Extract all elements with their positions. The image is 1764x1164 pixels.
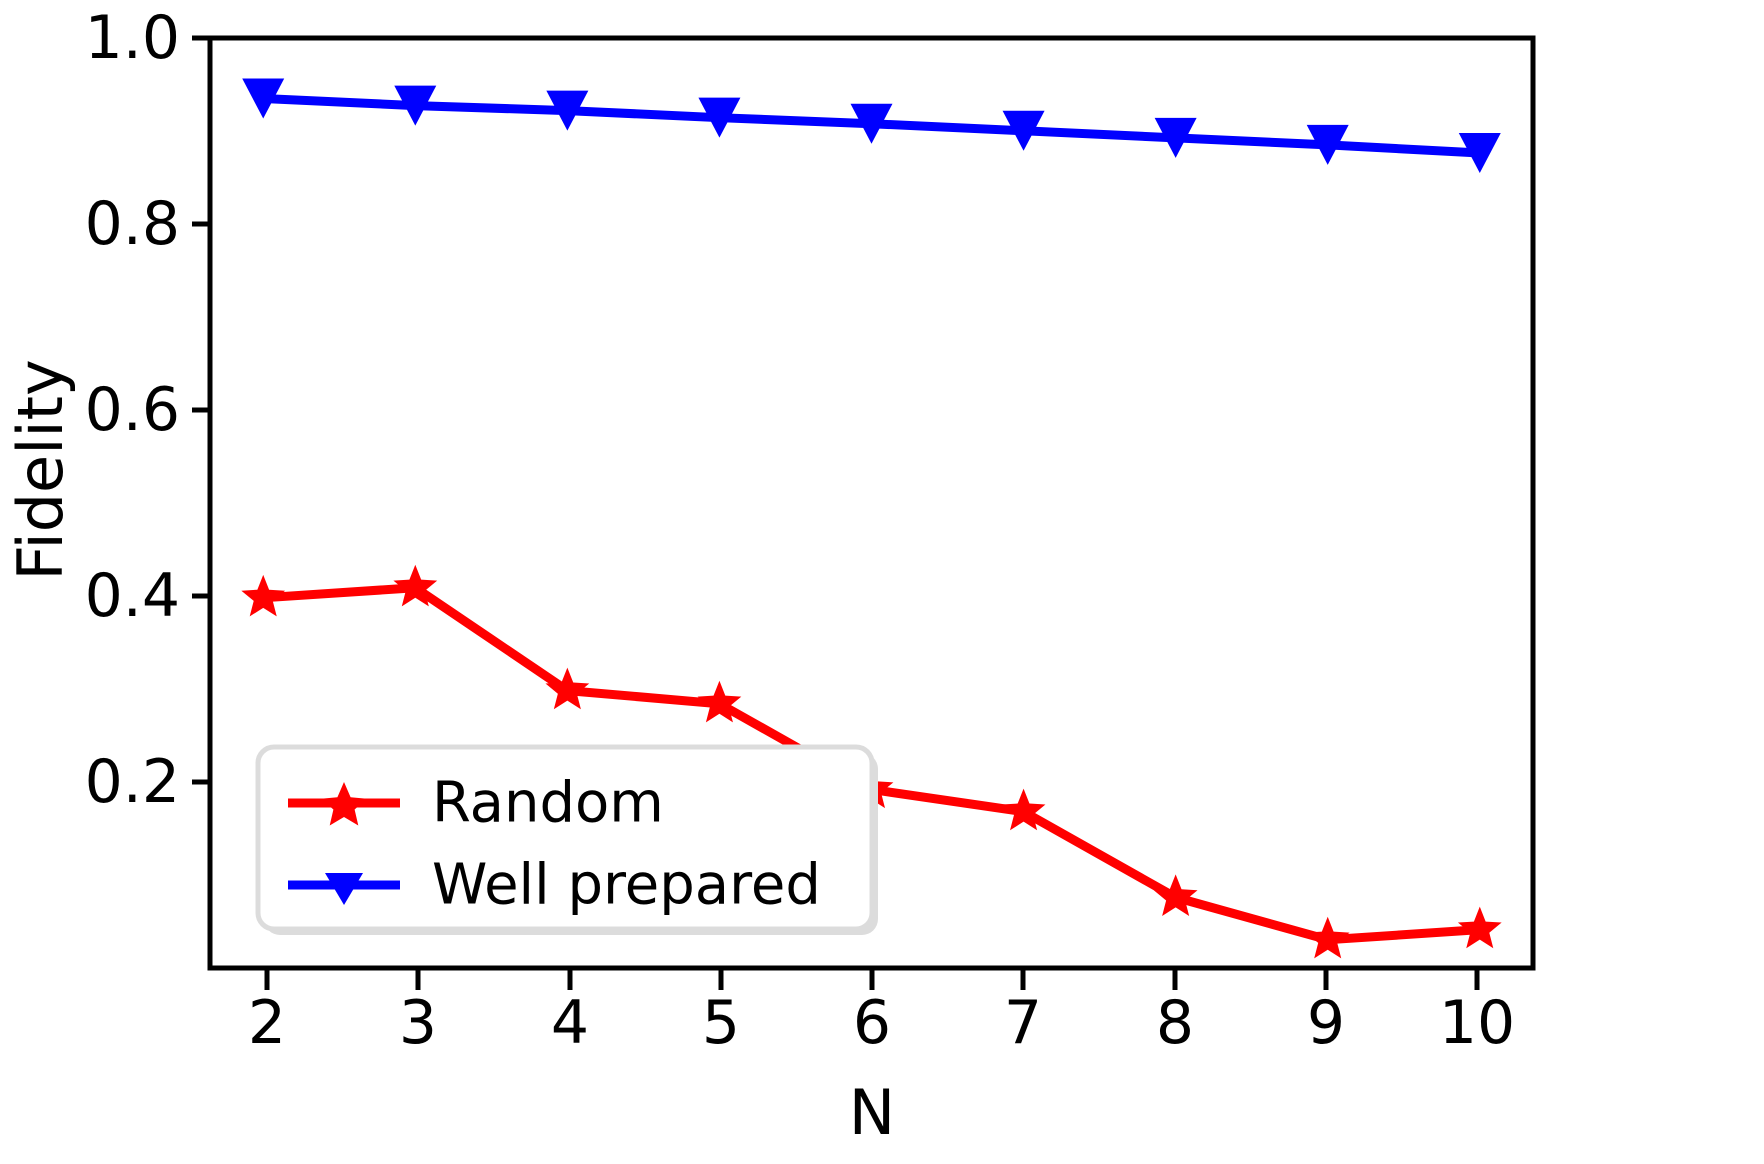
y-tick-label: 0.8 [85,189,180,259]
star-marker [1154,874,1198,916]
y-tick-label: 1.0 [85,3,180,73]
legend-label-well-prepared: Well prepared [432,853,821,918]
x-tick-label: 9 [1307,988,1345,1058]
chart-figure: 1.0 0.8 0.6 0.4 0.2 2 3 4 5 6 7 8 [0,0,1764,1164]
x-tick-label: 4 [551,988,589,1058]
x-tick-label: 8 [1156,988,1194,1058]
chart-legend[interactable]: Random Well prepared [258,747,878,935]
y-tick-label: 0.6 [85,375,180,445]
x-tick-label: 10 [1439,988,1515,1058]
y-tick-label: 0.4 [85,561,180,631]
star-marker [545,668,589,710]
x-tick-label: 3 [399,988,437,1058]
x-tick-label: 5 [702,988,740,1058]
x-tick-label: 6 [853,988,891,1058]
star-marker [241,575,285,617]
x-axis-tick-labels: 2 3 4 5 6 7 8 9 10 [248,988,1515,1058]
star-marker [1458,907,1502,949]
y-axis-title: Fidelity [4,359,77,580]
legend-label-random: Random [432,771,664,836]
series-well-prepared [242,79,1501,173]
x-tick-label: 7 [1004,988,1042,1058]
y-axis-ticks [192,38,210,782]
y-tick-label: 0.2 [85,747,180,817]
y-axis-tick-labels: 1.0 0.8 0.6 0.4 0.2 [85,3,180,817]
star-marker [1306,917,1350,959]
line-chart: 1.0 0.8 0.6 0.4 0.2 2 3 4 5 6 7 8 [0,0,1764,1164]
x-axis-ticks [267,968,1477,990]
x-tick-label: 2 [248,988,286,1058]
x-axis-title: N [849,1076,895,1149]
